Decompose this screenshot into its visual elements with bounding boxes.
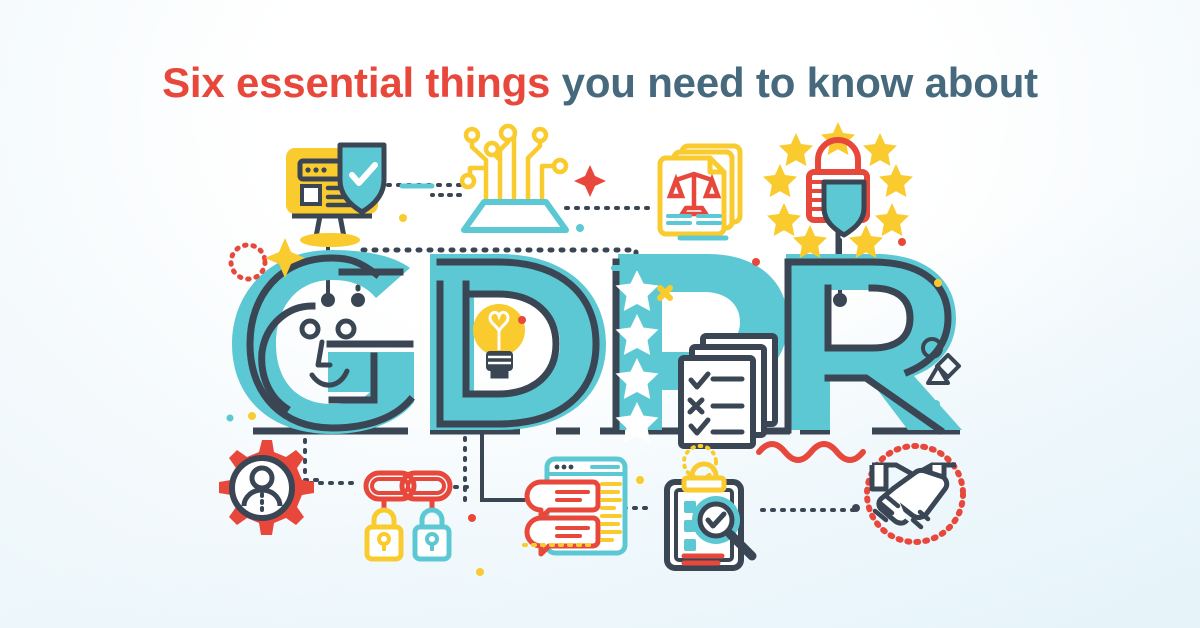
banner-canvas: Six essential things you need to know ab…	[0, 0, 1200, 628]
shape-triangle	[928, 366, 948, 383]
dot-teal	[932, 400, 940, 408]
yellow-cross-mark	[660, 288, 670, 298]
dot-teal	[576, 224, 584, 232]
dot-teal	[227, 415, 234, 422]
yellow-dotted-circle	[684, 446, 716, 478]
dot-red	[898, 238, 906, 246]
dot-navy	[852, 504, 860, 512]
dot-red	[468, 514, 476, 522]
dot-red	[518, 316, 526, 324]
dot-red	[752, 258, 760, 266]
dot-yellow	[476, 568, 484, 576]
red-wave-line	[759, 444, 863, 460]
dot-yellow	[399, 214, 407, 222]
decorations-layer	[0, 0, 1200, 628]
dot-yellow	[934, 279, 942, 287]
red-sparkle	[574, 165, 606, 197]
dot-yellow	[248, 412, 256, 420]
yellow-sparkle	[265, 238, 305, 278]
shape-circle	[923, 339, 941, 357]
red-dotted-circle	[231, 245, 265, 279]
dot-yellow	[636, 476, 644, 484]
